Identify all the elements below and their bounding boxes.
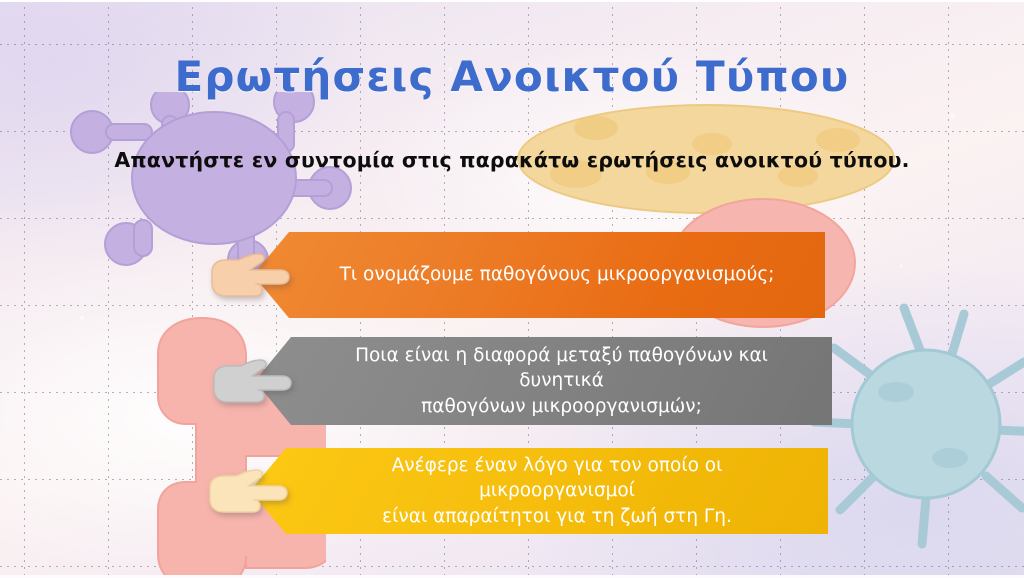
slide-canvas: Ερωτήσεις Ανοικτού Τύπου Απαντήστε εν συ… bbox=[0, 0, 1024, 578]
question-1-text: Τι ονομάζουμε παθογόνους μικροοργανισμού… bbox=[340, 262, 775, 288]
blue-spiky-virus-icon bbox=[800, 300, 1024, 550]
page-title: Ερωτήσεις Ανοικτού Τύπου bbox=[0, 52, 1024, 101]
question-2-text-line1: Ποια είναι η διαφορά μεταξύ παθογόνων κα… bbox=[319, 343, 804, 394]
page-subtitle: Απαντήστε εν συντομία στις παρακάτω ερωτ… bbox=[0, 148, 1024, 172]
pointing-hand-icon bbox=[202, 462, 290, 532]
pointing-hand-icon bbox=[206, 352, 294, 422]
pointing-hand-icon bbox=[204, 246, 292, 316]
question-banner-1[interactable]: Τι ονομάζουμε παθογόνους μικροοργανισμού… bbox=[253, 232, 825, 318]
question-2-text-line2: παθογόνων μικροοργανισμών; bbox=[319, 394, 804, 420]
question-3-text-line2: είναι απαραίτητοι για τη ζωή στη Γη. bbox=[314, 504, 800, 530]
question-banner-2[interactable]: Ποια είναι η διαφορά μεταξύ παθογόνων κα… bbox=[255, 337, 832, 425]
question-3-text-line1: Ανέφερε έναν λόγο για τον οποίο οι μικρο… bbox=[314, 453, 800, 504]
question-banner-3[interactable]: Ανέφερε έναν λόγο για τον οποίο οι μικρο… bbox=[250, 448, 828, 534]
